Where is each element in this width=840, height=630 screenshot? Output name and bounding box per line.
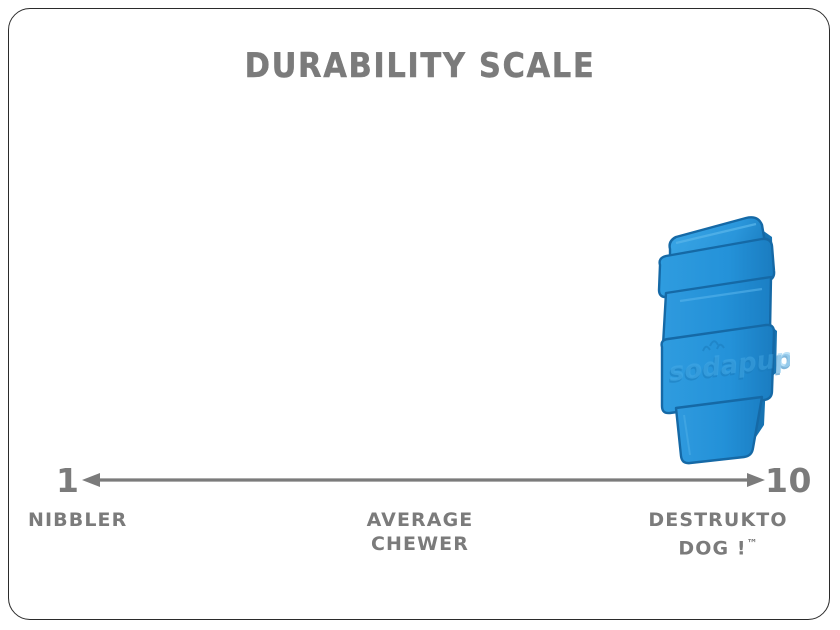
- axis-arrowhead-left: [82, 473, 100, 487]
- scale-label-nibbler: NIBBLER: [28, 508, 127, 532]
- trademark-symbol: ™: [747, 537, 758, 550]
- scale-label-average-chewer-line1: AVERAGE: [300, 508, 540, 532]
- scale-label-destrukto-dog-line1: DESTRUKTO: [620, 508, 816, 532]
- scale-label-average-chewer: AVERAGE CHEWER: [300, 508, 540, 556]
- durability-scale-infographic: DURABILITY SCALE: [0, 0, 840, 630]
- scale-value-min: 1: [56, 464, 79, 497]
- page-title: DURABILITY SCALE: [0, 46, 840, 86]
- scale-label-destrukto-dog-line2: DOG !™: [620, 532, 816, 560]
- destrukto-dog-text: DOG !: [678, 537, 746, 559]
- scale-label-average-chewer-line2: CHEWER: [300, 532, 540, 556]
- scale-value-max: 10: [765, 464, 812, 497]
- durability-axis: [0, 462, 840, 498]
- coffee-cup-toy-icon: sodapup sodapup: [640, 205, 790, 470]
- scale-label-destrukto-dog: DESTRUKTO DOG !™: [620, 508, 816, 560]
- toy-sleeve-band: sodapup sodapup: [662, 325, 790, 413]
- axis-arrowhead-right: [747, 473, 765, 487]
- toy-cup-lower: [676, 397, 762, 463]
- product-illustration: sodapup sodapup: [640, 205, 790, 470]
